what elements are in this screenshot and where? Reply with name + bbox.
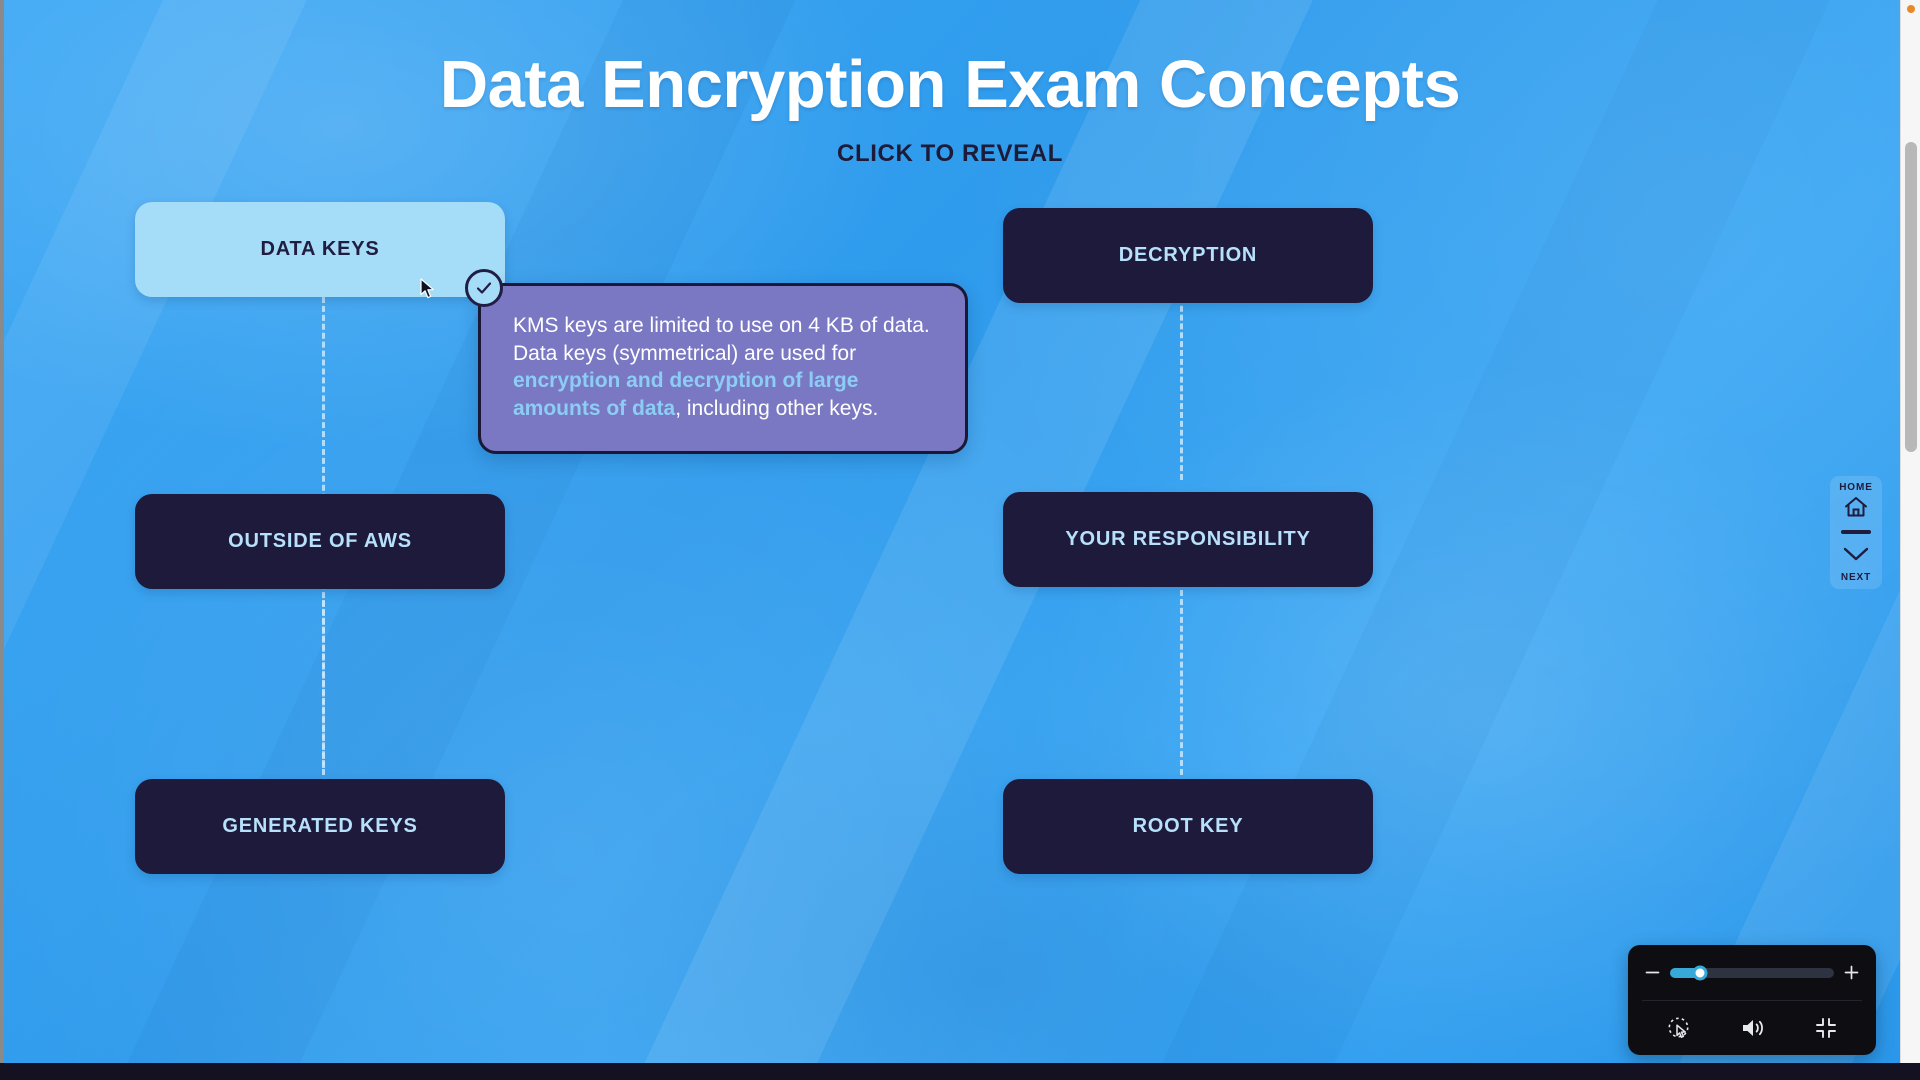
card-generated-keys[interactable]: GENERATED KEYS [135,779,505,874]
scrollbar-thumb[interactable] [1905,142,1917,452]
connector-left-bottom [322,600,325,775]
check-icon [465,269,503,307]
card-decryption[interactable]: DECRYPTION [1003,208,1373,303]
player-control-dock [1628,945,1876,1055]
nav-divider [1841,530,1871,534]
minus-icon[interactable] [1644,964,1661,981]
presentation-slide: Data Encryption Exam Concepts CLICK TO R… [0,0,1900,1063]
page-title: Data Encryption Exam Concepts [0,46,1900,123]
next-label: NEXT [1841,572,1871,583]
home-button[interactable] [1834,493,1878,525]
reveal-tooltip: KMS keys are limited to use on 4 KB of d… [478,283,968,454]
card-outside-of-aws[interactable]: OUTSIDE OF AWS [135,494,505,589]
card-label: DECRYPTION [1119,244,1257,267]
card-label: DATA KEYS [260,238,379,261]
home-label: HOME [1839,482,1873,493]
dock-tools-row [1628,1001,1876,1055]
zoom-control-row [1628,945,1876,1000]
page-scrollbar[interactable] [1900,0,1920,1063]
card-label: YOUR RESPONSIBILITY [1065,528,1310,551]
window-bottom-strip [0,1063,1920,1080]
card-label: OUTSIDE OF AWS [228,530,412,553]
zoom-slider-thumb[interactable] [1692,965,1707,980]
browser-viewport: Data Encryption Exam Concepts CLICK TO R… [0,0,1920,1080]
chevron-down-icon [1842,545,1870,568]
connector-right-bottom [1180,590,1183,775]
exit-fullscreen-icon[interactable] [1814,1016,1838,1040]
tooltip-text-tail: , including other keys. [675,397,878,420]
scrollbar-marker [1907,5,1915,13]
select-cursor-icon[interactable] [1666,1015,1692,1041]
card-root-key[interactable]: ROOT KEY [1003,779,1373,874]
home-icon [1843,495,1869,524]
connector-right-top [1180,288,1183,480]
card-label: GENERATED KEYS [222,815,417,838]
card-your-responsibility[interactable]: YOUR RESPONSIBILITY [1003,492,1373,587]
navigation-rail: HOME [1830,476,1882,589]
volume-icon[interactable] [1739,1016,1767,1040]
tooltip-text: KMS keys are limited to use on 4 KB of d… [513,312,933,423]
tooltip-text-lead: KMS keys are limited to use on 4 KB of d… [513,314,930,365]
zoom-slider[interactable] [1670,968,1834,978]
card-label: ROOT KEY [1133,815,1244,838]
next-button[interactable] [1834,540,1878,572]
card-data-keys[interactable]: DATA KEYS [135,202,505,297]
window-left-edge [0,0,4,1063]
plus-icon[interactable] [1843,964,1860,981]
page-subtitle: CLICK TO REVEAL [0,140,1900,168]
